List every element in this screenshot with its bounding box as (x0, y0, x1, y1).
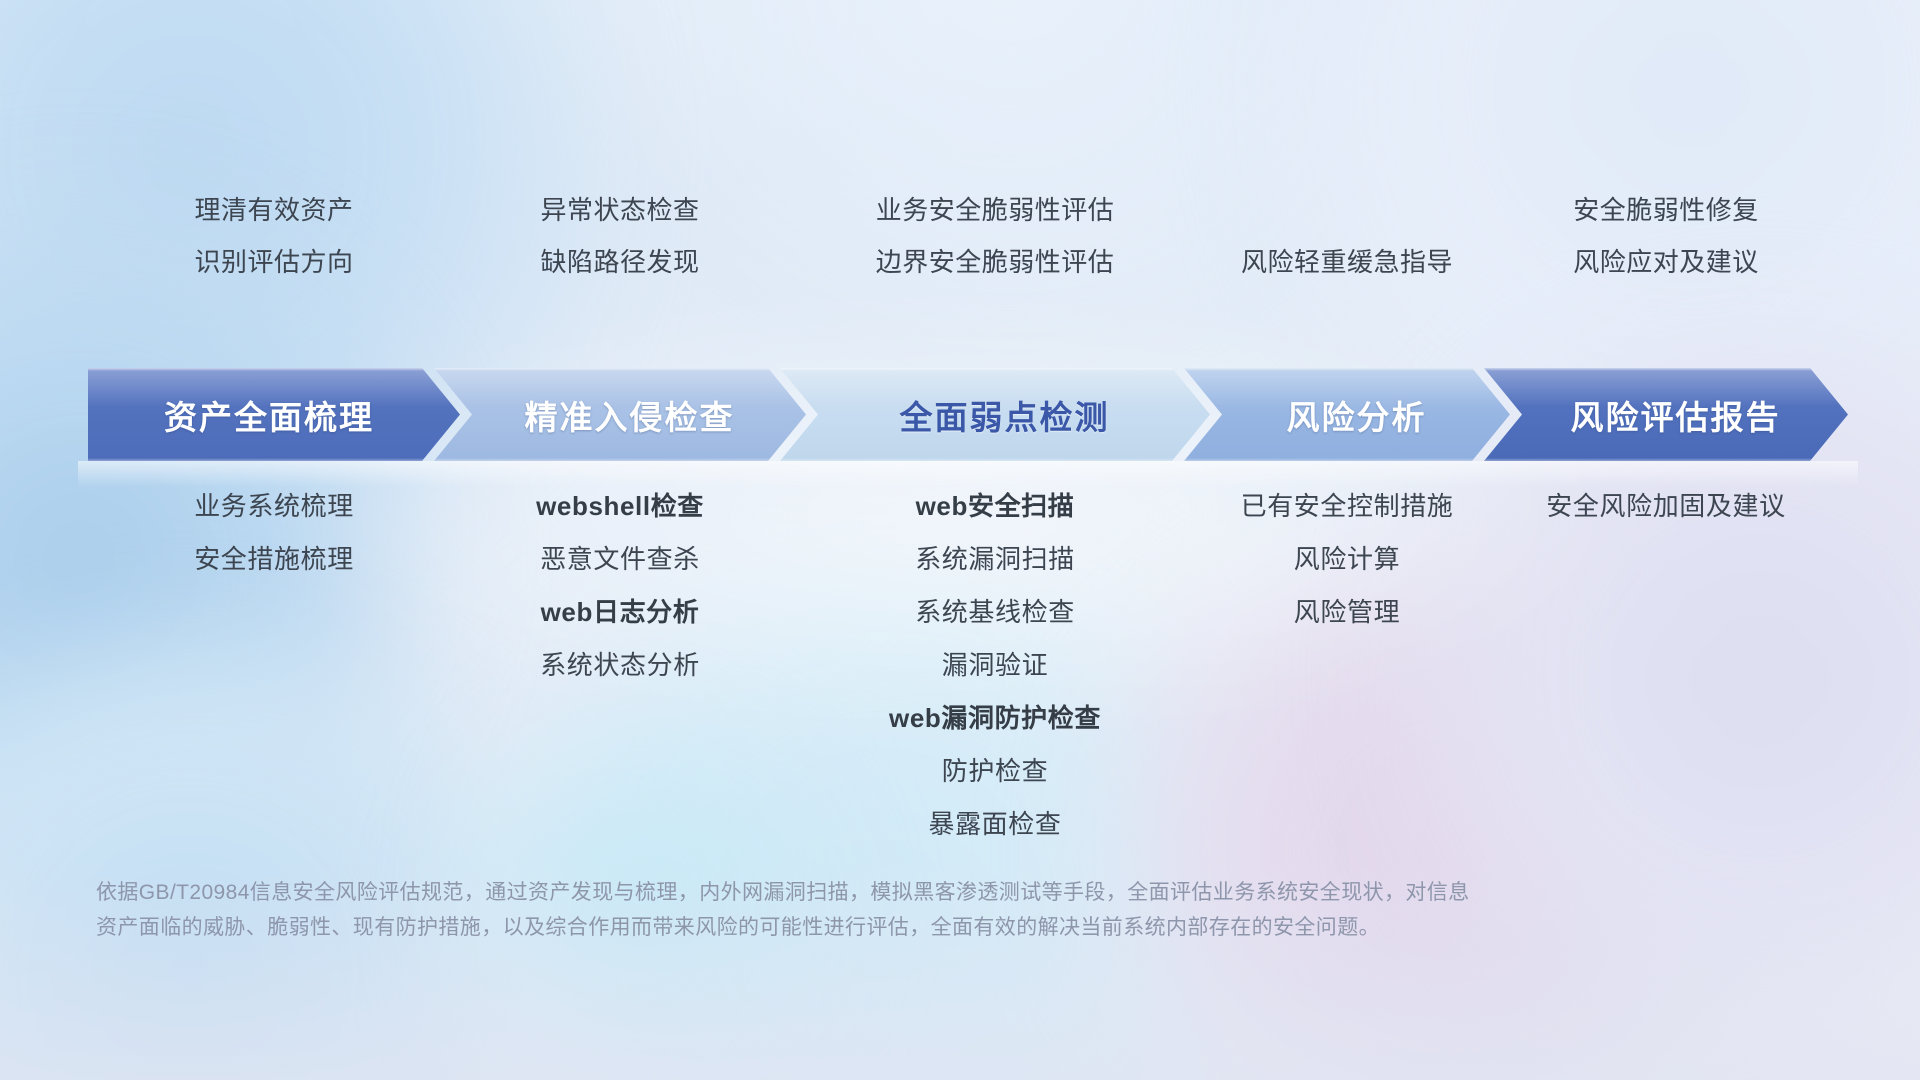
step-item: 风险计算 (1047, 533, 1647, 586)
process-step-5[interactable]: 风险评估报告 (1484, 368, 1848, 461)
top-note: 业务安全脆弱性评估 (695, 184, 1295, 236)
process-step-3[interactable]: 全面弱点检测 (780, 368, 1210, 461)
footer-description: 依据GB/T20984信息安全风险评估规范，通过资产发现与梳理，内外网漏洞扫描，… (96, 875, 1736, 945)
process-diagram: 理清有效资产识别评估方向异常状态检查缺陷路径发现业务安全脆弱性评估边界安全脆弱性… (0, 0, 1920, 1080)
top-note: 安全脆弱性修复 (1366, 184, 1920, 236)
footer-line-2: 资产面临的威胁、脆弱性、现有防护措施，以及综合作用而带来风险的可能性进行评估，全… (96, 910, 1736, 945)
process-step-label: 风险分析 (1287, 391, 1427, 439)
step-item: 风险管理 (1047, 586, 1647, 639)
step-items-column-5: 安全风险加固及建议 (1366, 480, 1920, 533)
top-note: 风险应对及建议 (1366, 236, 1920, 288)
process-step-4[interactable]: 风险分析 (1184, 368, 1510, 461)
process-step-label: 精准入侵检查 (525, 391, 735, 439)
process-step-label: 资产全面梳理 (164, 391, 374, 439)
process-step-label: 风险评估报告 (1571, 391, 1781, 439)
process-step-1[interactable]: 资产全面梳理 (88, 368, 460, 461)
top-notes-column-5: 安全脆弱性修复风险应对及建议 (1366, 184, 1920, 288)
step-item: 漏洞验证 (695, 639, 1295, 692)
footer-line-1: 依据GB/T20984信息安全风险评估规范，通过资产发现与梳理，内外网漏洞扫描，… (96, 875, 1736, 910)
step-item: 安全风险加固及建议 (1366, 480, 1920, 533)
step-item: web漏洞防护检查 (695, 692, 1295, 745)
step-item: 防护检查 (695, 745, 1295, 798)
step-item: 暴露面检查 (695, 798, 1295, 851)
process-arrow-band: 资产全面梳理精准入侵检查全面弱点检测风险分析风险评估报告 (88, 368, 1848, 461)
process-step-2[interactable]: 精准入侵检查 (434, 368, 806, 461)
process-step-label: 全面弱点检测 (900, 391, 1110, 439)
